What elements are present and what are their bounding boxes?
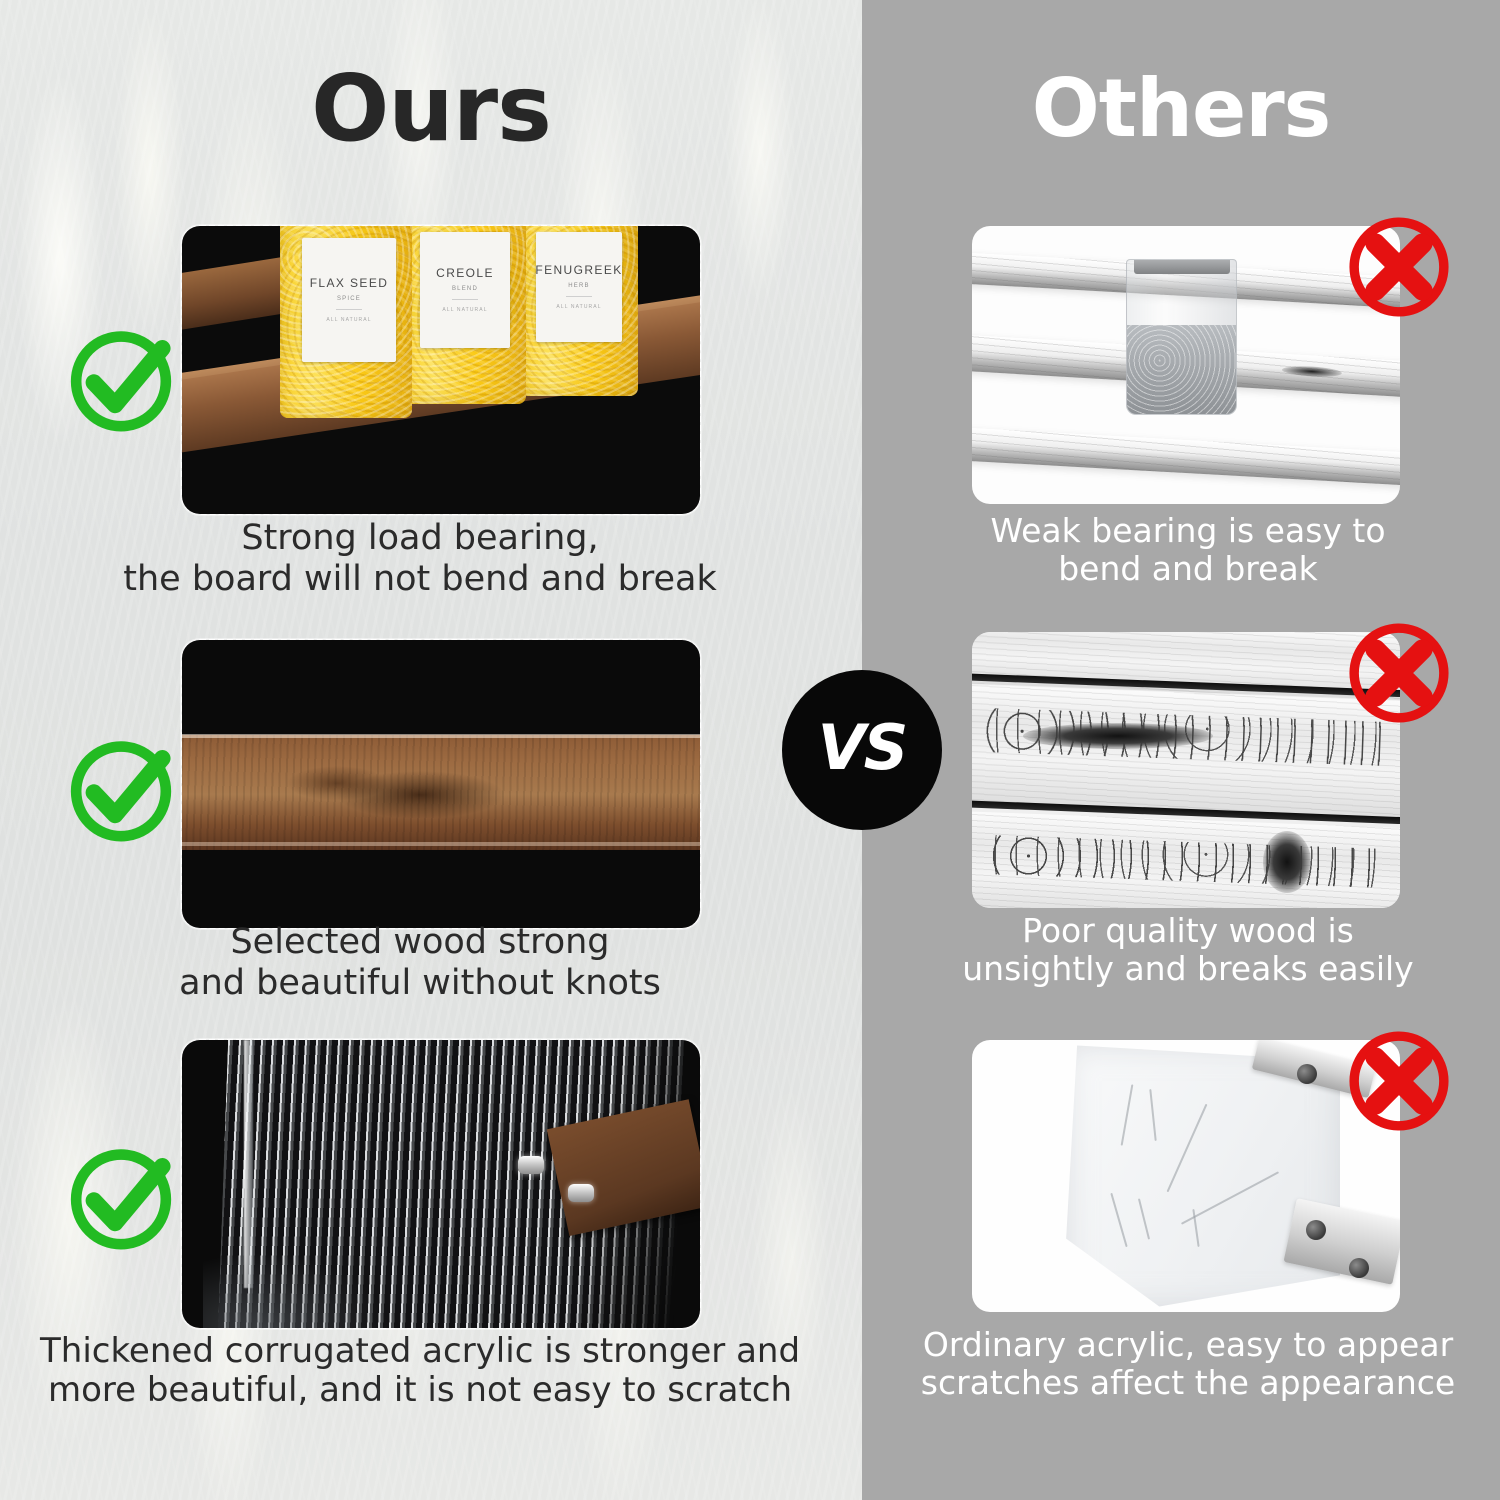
- caption-line: Selected wood strong: [40, 922, 800, 963]
- glass-jar-lid: [1134, 259, 1230, 274]
- caption-line: and beautiful without knots: [40, 963, 800, 1004]
- row3-right-photo: [972, 1040, 1400, 1312]
- row3-left-caption: Thickened corrugated acrylic is stronger…: [40, 1332, 800, 1411]
- row1-right-caption: Weak bearing is easy to bend and break: [888, 512, 1488, 589]
- caption-line: unsightly and breaks easily: [888, 950, 1488, 988]
- weak-shelf-photo: [972, 226, 1400, 504]
- jar-label-flax-seed: FLAX SEED SPICE ALL NATURAL: [302, 238, 396, 362]
- ordinary-acrylic-panel: [1066, 1045, 1340, 1306]
- jar-label-sub: SPICE: [337, 296, 361, 302]
- caption-line: Ordinary acrylic, easy to appear: [888, 1326, 1488, 1364]
- caption-line: Thickened corrugated acrylic is stronger…: [40, 1332, 800, 1371]
- spice-jar-flax-seed: FLAX SEED SPICE ALL NATURAL: [280, 226, 412, 418]
- jar-label-sub: BLEND: [452, 286, 478, 292]
- caption-line: Weak bearing is easy to: [888, 512, 1488, 550]
- caption-line: the board will not bend and break: [40, 559, 800, 600]
- vs-label: VS: [818, 717, 907, 779]
- acrylic-edge-highlight: [244, 1040, 253, 1288]
- row1-right-photo: [972, 226, 1400, 504]
- plank-bottom-highlight: [182, 842, 700, 846]
- red-cross-icon: [1340, 208, 1458, 326]
- jar-label-fenugreek: FENUGREEK HERB ALL NATURAL: [536, 232, 622, 342]
- poor-quality-wood-photo: [972, 632, 1400, 908]
- comparison-infographic: Ours Others FENUGREEK HERB ALL NATURAL: [0, 0, 1500, 1500]
- weak-shelf-board-bottom: [972, 427, 1400, 487]
- row3-right-caption: Ordinary acrylic, easy to appear scratch…: [888, 1326, 1488, 1403]
- glass-jar-contents: [1127, 325, 1236, 414]
- jar-label-rule: [452, 299, 478, 300]
- red-cross-icon: [1340, 1022, 1458, 1140]
- acrylic-screw-1: [518, 1156, 544, 1174]
- jar-label-creole: CREOLE BLEND ALL NATURAL: [420, 232, 510, 348]
- red-cross-icon: [1340, 614, 1458, 732]
- acrylic-screw-2: [568, 1184, 594, 1202]
- caption-line: Poor quality wood is: [888, 912, 1488, 950]
- bracket-screw-bottom-2: [1349, 1258, 1369, 1278]
- jar-label-name: FENUGREEK: [535, 264, 622, 278]
- row1-left-caption: Strong load bearing, the board will not …: [40, 518, 800, 599]
- spice-jar-fenugreek: FENUGREEK HERB ALL NATURAL: [520, 226, 638, 396]
- vs-badge: VS: [782, 670, 942, 830]
- bracket-screw-bottom-1: [1306, 1220, 1326, 1240]
- jar-label-footer: ALL NATURAL: [326, 317, 371, 323]
- wood-knot-1: [1023, 723, 1213, 749]
- green-check-icon: [62, 730, 180, 848]
- caption-line: bend and break: [888, 550, 1488, 588]
- green-check-icon: [62, 1138, 180, 1256]
- others-title: Others: [862, 62, 1500, 155]
- jar-label-footer: ALL NATURAL: [442, 307, 487, 313]
- wood-plank: [182, 735, 700, 850]
- caption-line: scratches affect the appearance: [888, 1364, 1488, 1402]
- plank-top-highlight: [182, 734, 700, 738]
- row2-left-caption: Selected wood strong and beautiful witho…: [40, 922, 800, 1003]
- selected-wood-plank-photo: [182, 640, 700, 928]
- scratched-acrylic-photo: [972, 1040, 1400, 1312]
- corrugated-acrylic-photo: [182, 1040, 700, 1328]
- spice-jar-creole: CREOLE BLEND ALL NATURAL: [402, 226, 526, 404]
- jar-label-rule: [336, 309, 362, 310]
- row2-right-photo: [972, 632, 1400, 908]
- row2-left-photo: [182, 640, 700, 928]
- row3-left-photo: [182, 1040, 700, 1328]
- jar-label-footer: ALL NATURAL: [556, 304, 601, 310]
- green-check-icon: [62, 320, 180, 438]
- jar-label-name: FLAX SEED: [310, 277, 389, 291]
- jar-label-name: CREOLE: [436, 267, 494, 281]
- jar-label-sub: HERB: [568, 283, 589, 289]
- row1-left-photo: FENUGREEK HERB ALL NATURAL CREOLE BLEND …: [182, 226, 700, 514]
- jar-label-rule: [566, 296, 592, 297]
- caption-line: Strong load bearing,: [40, 518, 800, 559]
- shelf-with-spice-jars-photo: FENUGREEK HERB ALL NATURAL CREOLE BLEND …: [182, 226, 700, 514]
- wood-knot-2: [1263, 831, 1311, 893]
- ours-title: Ours: [0, 55, 862, 162]
- row2-right-caption: Poor quality wood is unsightly and break…: [888, 912, 1488, 989]
- acrylic-shadow: [203, 1253, 389, 1328]
- caption-line: more beautiful, and it is not easy to sc…: [40, 1371, 800, 1410]
- glass-jar: [1126, 259, 1237, 415]
